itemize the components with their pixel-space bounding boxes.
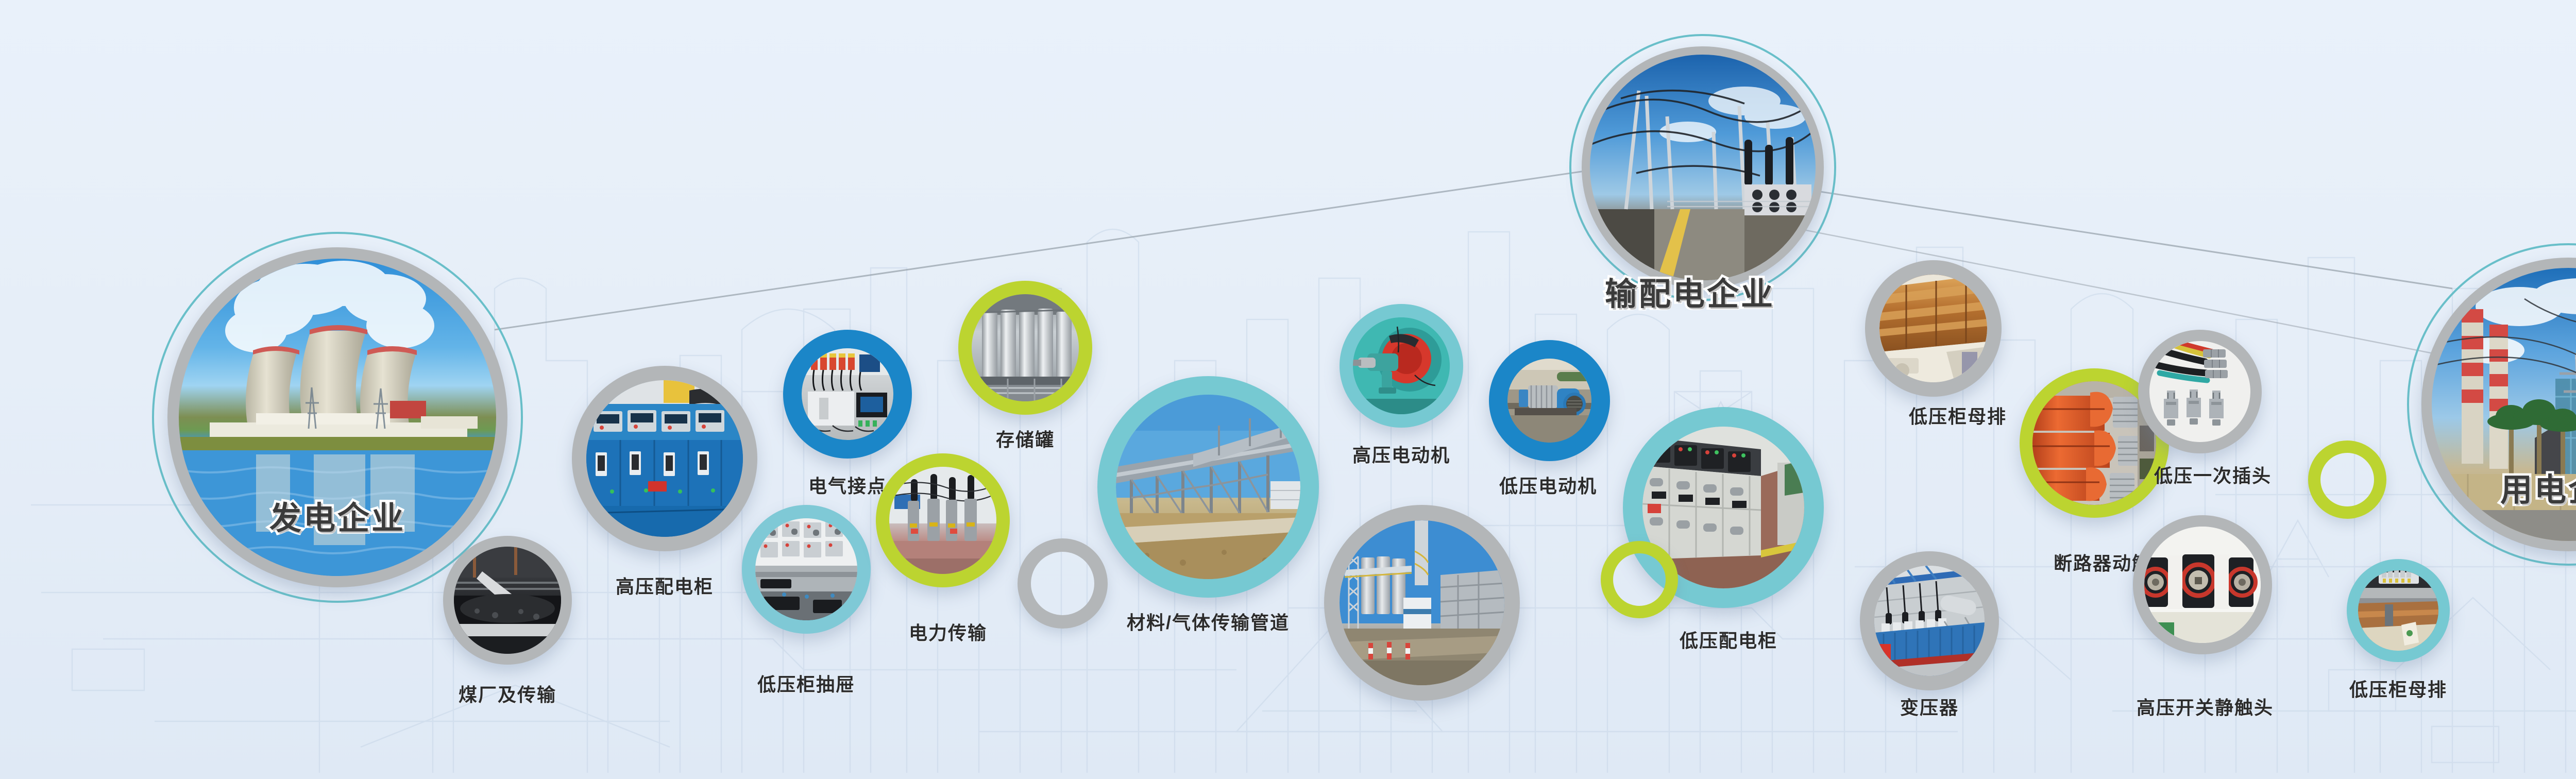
photo-hv-switch-static-contact [2144,527,2261,643]
label-lv-primary-plug: 低压一次插头 [2154,461,2272,488]
node-lv-cabinet-busbar-bottom[interactable] [2347,559,2450,662]
photo-lv-cabinet-drawer [755,518,857,620]
node-lv-cabinet-drawer[interactable] [742,505,871,634]
label-hv-distribution-cabinet: 高压配电柜 [616,572,714,599]
node-process-plant[interactable] [1324,505,1520,701]
label-lv-motor: 低压电动机 [1499,471,1597,498]
photo-lv-cabinet-busbar-top [1879,275,1987,382]
node-hv-motor[interactable] [1340,304,1463,428]
hero-label-power-generation: 发电企业 [269,492,405,538]
infographic-canvas: 发电企业 [0,0,2576,779]
label-material-gas-pipeline: 材料/气体传输管道 [1127,608,1290,635]
label-transformer: 变压器 [1900,693,1959,720]
label-lv-cabinet-busbar-bottom: 低压柜母排 [2349,675,2447,702]
photo-lv-cabinet-busbar-bottom [2358,570,2438,651]
photo-coal-plant-transport [454,547,561,654]
decor-ring-gray-left [1018,538,1108,629]
photo-transmission-distribution [1590,55,1816,280]
decor-ring-green-right [2308,441,2386,519]
node-lv-primary-plug[interactable] [2138,330,2262,453]
photo-hv-motor [1353,317,1450,414]
label-storage-tank: 存储罐 [996,425,1055,452]
label-electrical-contacts: 电气接点 [808,471,887,498]
photo-electrical-contacts [802,348,893,440]
photo-hv-distribution-cabinet [586,380,743,537]
node-lv-motor[interactable] [1489,340,1610,461]
label-lv-distribution-cabinet: 低压配电柜 [1680,626,1777,653]
label-hv-motor: 高压电动机 [1352,441,1450,467]
photo-breaker-moving-contact [2032,381,2156,505]
photo-power-transmission [889,467,996,574]
photo-material-gas-pipeline [1116,395,1300,579]
hero-label-power-consumption: 用电企业 [2500,464,2576,510]
hero-label-transmission-distribution: 输配电企业 [1605,268,1775,314]
photo-lv-primary-plug [2149,341,2250,442]
label-power-transmission: 电力传输 [909,618,987,645]
label-coal-plant-transport: 煤厂及传输 [459,680,556,707]
node-transformer[interactable] [1860,551,1999,690]
photo-process-plant [1340,520,1504,685]
node-lv-cabinet-busbar-top[interactable] [1865,260,2002,397]
node-coal-plant-transport[interactable] [443,536,572,665]
node-electrical-contacts[interactable] [783,330,912,459]
node-power-transmission[interactable] [876,453,1010,587]
label-hv-switch-static-contact: 高压开关静触头 [2137,693,2274,720]
photo-storage-tank [972,294,1079,401]
node-hv-switch-static-contact[interactable] [2133,515,2272,654]
photo-lv-motor [1507,359,1591,443]
node-transmission-distribution[interactable] [1582,46,1824,289]
photo-transformer [1874,566,1985,676]
label-lv-cabinet-drawer: 低压柜抽屉 [757,670,855,697]
decor-ring-green-mid [1601,541,1678,618]
node-material-gas-pipeline[interactable] [1097,376,1319,598]
node-storage-tank[interactable] [958,281,1092,415]
node-hv-distribution-cabinet[interactable] [572,366,757,551]
label-lv-cabinet-busbar-top: 低压柜母排 [1909,402,2007,429]
